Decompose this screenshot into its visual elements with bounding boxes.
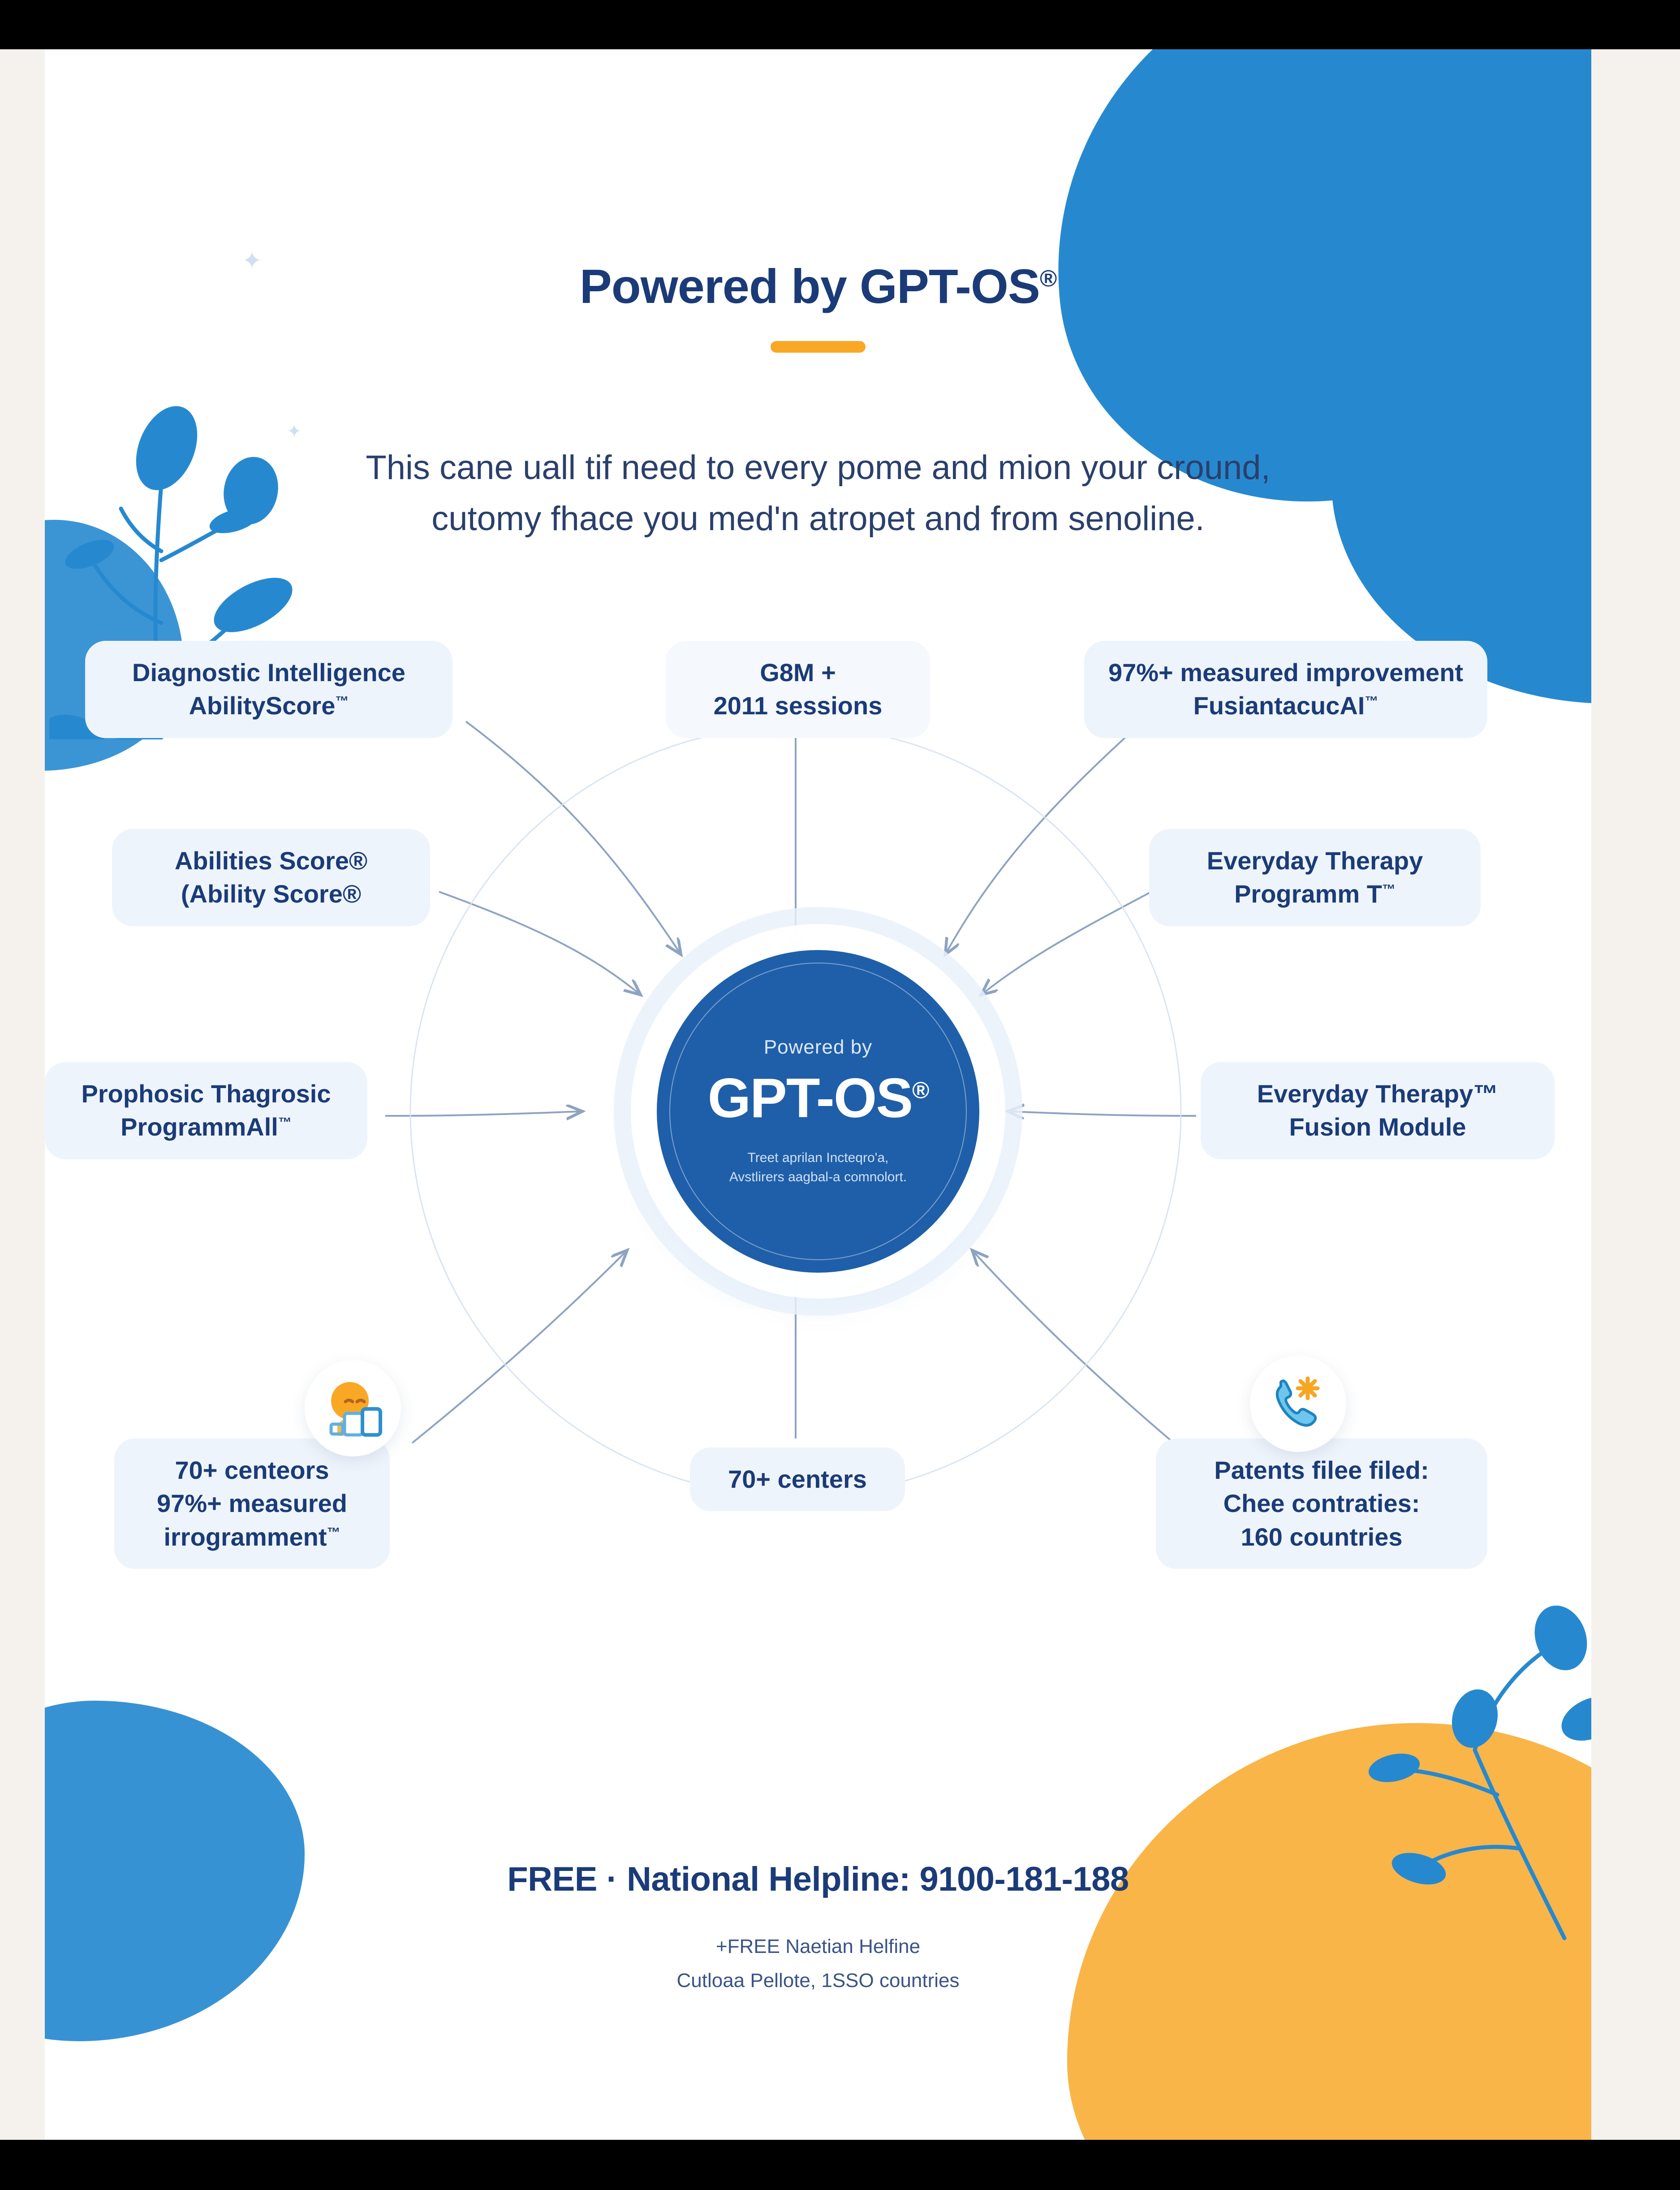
page-title: Powered by GPT-OS® — [45, 260, 1591, 313]
hub-eyebrow: Powered by — [764, 1036, 872, 1058]
node-br-line-2: Chee contraties: — [1223, 1489, 1420, 1517]
node-tc-line-2: 2011 sessions — [714, 691, 883, 720]
helpline-number[interactable]: FREE · National Helpline: 9100-181-188 — [45, 1860, 1591, 1899]
node-fusion-module[interactable]: Everyday Therapy™ Fusion Module — [1201, 1062, 1555, 1159]
hub-subtext: Treet aprilan Incteqro'a, Avstlirers aag… — [729, 1148, 907, 1187]
node-mr-line-1: Everyday Therapy — [1207, 847, 1423, 875]
central-hub: Powered by GPT-OS® Treet aprilan Incteqr… — [657, 950, 979, 1273]
node-tl-line-1: Diagnostic Intelligence — [132, 658, 405, 687]
node-diagnostic-intelligence[interactable]: Diagnostic Intelligence AbilityScore™ — [85, 641, 452, 738]
infographic-canvas: Powered by GPT-OS® This cane uall tif ne… — [0, 0, 1680, 2190]
node-everyday-therapy-program[interactable]: Everyday Therapy Programm T™ — [1149, 829, 1481, 926]
page-subtitle: This cane uall tif need to every pome an… — [348, 442, 1288, 544]
hub-subtext-line-2: Avstlirers aagbal-a comnolort. — [729, 1170, 907, 1184]
hub-brand: GPT-OS® — [708, 1067, 929, 1130]
node-cr-line-1: Everyday Therapy™ — [1257, 1080, 1498, 1108]
node-centers-count[interactable]: 70+ centers — [690, 1447, 905, 1511]
node-bl-mark: ™ — [327, 1525, 340, 1540]
node-patents-countries[interactable]: Patents filee filed: Chee contraties: 16… — [1156, 1438, 1487, 1569]
node-centers-measured[interactable]: 70+ centeors 97%+ measured irrogramment™ — [114, 1438, 390, 1569]
header-block: Powered by GPT-OS® This cane uall tif ne… — [45, 49, 1591, 544]
node-br-line-1: Patents filee filed: — [1214, 1456, 1429, 1484]
registered-mark: ® — [1040, 266, 1056, 292]
node-ml-line-2: (Ability Score® — [181, 880, 361, 908]
node-cr-line-2: Fusion Module — [1289, 1113, 1466, 1141]
node-abilities-score[interactable]: Abilities Score® (Ability Score® — [112, 829, 430, 926]
footer-note-line-1: +FREE Naetian Helfine — [45, 1935, 1591, 1958]
node-mr-mark: ™ — [1382, 882, 1396, 897]
node-tr-mark: ™ — [1365, 694, 1378, 709]
hub-subtext-line-1: Treet aprilan Incteqro'a, — [748, 1150, 889, 1165]
node-cl-line-2: ProgrammAll — [121, 1113, 278, 1141]
node-cl-line-1: Prophosic Thagrosic — [82, 1080, 331, 1108]
node-bc-line-1: 70+ centers — [728, 1465, 867, 1493]
node-bl-line-3: irrogramment — [164, 1523, 327, 1551]
node-tc-line-1: G8M + — [760, 658, 836, 687]
subtitle-line-1: This cane uall tif need to every pome an… — [366, 449, 1270, 487]
hub-and-spoke-diagram: Powered by GPT-OS® Treet aprilan Incteqr… — [45, 641, 1591, 1761]
node-br-line-3: 160 countries — [1241, 1523, 1402, 1551]
sparkle-decor-1: ✦ — [242, 246, 262, 275]
person-with-device-badge[interactable] — [305, 1360, 401, 1456]
node-prophosic-thagrosic[interactable]: Prophosic Thagrosic ProgrammAll™ — [45, 1062, 367, 1159]
footer-note-line-2: Cutloaa Pellote, 1SSO countries — [45, 1970, 1591, 1992]
subtitle-line-2: cutomy fhace you med'n atropet and from … — [431, 500, 1204, 538]
hub-registered-mark: ® — [912, 1077, 928, 1103]
node-tl-mark: ™ — [335, 694, 349, 709]
phone-sparkle-icon — [1265, 1370, 1332, 1438]
hub-brand-text: GPT-OS — [708, 1067, 913, 1129]
phone-sparkle-badge[interactable] — [1250, 1356, 1346, 1452]
node-ml-line-1: Abilities Score® — [175, 847, 367, 875]
page-title-text: Powered by GPT-OS — [580, 259, 1040, 313]
footer-block: FREE · National Helpline: 9100-181-188 +… — [45, 1860, 1591, 1992]
poster-card: Powered by GPT-OS® This cane uall tif ne… — [45, 49, 1591, 2140]
letterbox-bar-bottom — [0, 2140, 1680, 2190]
node-sessions-count[interactable]: G8M + 2011 sessions — [666, 641, 930, 738]
node-bl-line-2: 97%+ measured — [157, 1489, 347, 1517]
node-tr-line-2: FusiantacucAI — [1193, 691, 1365, 720]
accent-divider — [771, 341, 866, 353]
node-bl-line-1: 70+ centeors — [175, 1456, 329, 1484]
node-cl-mark: ™ — [278, 1115, 292, 1130]
node-tr-line-1: 97%+ measured improvement — [1108, 658, 1463, 687]
node-measured-improvement[interactable]: 97%+ measured improvement FusiantacucAI™ — [1084, 641, 1487, 738]
node-tl-line-2: AbilityScore — [189, 691, 336, 720]
node-mr-line-2: Programm T — [1234, 880, 1382, 908]
sparkle-decor-2: ✦ — [287, 421, 302, 442]
person-with-device-icon — [319, 1375, 387, 1442]
letterbox-bar-top — [0, 0, 1680, 49]
